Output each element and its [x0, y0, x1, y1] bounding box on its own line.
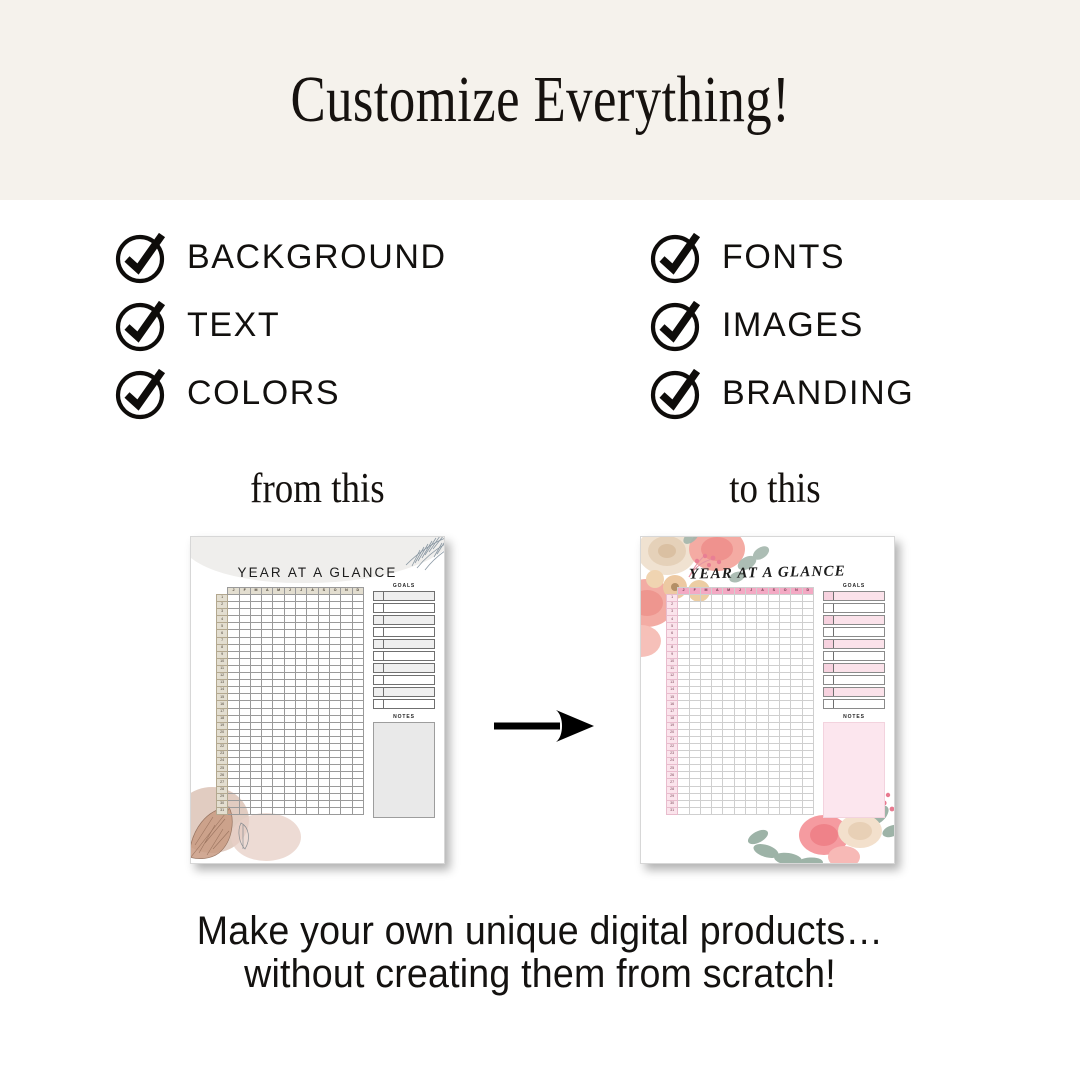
grid-cell[interactable]: [352, 807, 363, 814]
grid-cell[interactable]: [802, 680, 813, 687]
grid-cell[interactable]: [700, 623, 711, 630]
grid-cell[interactable]: [318, 708, 329, 715]
grid-cell[interactable]: [700, 758, 711, 765]
grid-cell[interactable]: [341, 807, 352, 814]
grid-cell[interactable]: [341, 743, 352, 750]
grid-cell[interactable]: [712, 722, 723, 729]
grid-cell[interactable]: [284, 708, 295, 715]
grid-cell[interactable]: [791, 708, 802, 715]
grid-cell[interactable]: [352, 616, 363, 623]
grid-cell[interactable]: [250, 616, 261, 623]
grid-cell[interactable]: [768, 793, 779, 800]
grid-cell[interactable]: [700, 743, 711, 750]
grid-cell[interactable]: [307, 609, 318, 616]
grid-cell[interactable]: [352, 800, 363, 807]
grid-cell[interactable]: [734, 694, 745, 701]
grid-cell[interactable]: [273, 736, 284, 743]
grid-cell[interactable]: [307, 800, 318, 807]
grid-cell[interactable]: [250, 743, 261, 750]
goal-text-field[interactable]: [384, 700, 434, 708]
grid-cell[interactable]: [307, 644, 318, 651]
grid-cell[interactable]: [791, 786, 802, 793]
grid-cell[interactable]: [712, 616, 723, 623]
goal-text-field[interactable]: [834, 700, 884, 708]
grid-cell[interactable]: [296, 729, 307, 736]
grid-cell[interactable]: [689, 743, 700, 750]
grid-cell[interactable]: [228, 779, 239, 786]
grid-cell[interactable]: [296, 758, 307, 765]
grid-cell[interactable]: [262, 736, 273, 743]
grid-cell[interactable]: [678, 807, 689, 814]
grid-cell[interactable]: [262, 772, 273, 779]
grid-cell[interactable]: [757, 807, 768, 814]
grid-cell[interactable]: [802, 609, 813, 616]
grid-cell[interactable]: [352, 715, 363, 722]
grid-cell[interactable]: [318, 751, 329, 758]
grid-cell[interactable]: [779, 722, 790, 729]
grid-cell[interactable]: [700, 729, 711, 736]
grid-cell[interactable]: [250, 637, 261, 644]
grid-cell[interactable]: [239, 694, 250, 701]
grid-cell[interactable]: [352, 758, 363, 765]
goal-text-field[interactable]: [384, 676, 434, 684]
grid-cell[interactable]: [700, 673, 711, 680]
grid-cell[interactable]: [273, 694, 284, 701]
planner-preview-after[interactable]: YEAR AT A GLANCE JFMAMJJASOND12345678910…: [640, 536, 895, 864]
grid-cell[interactable]: [296, 623, 307, 630]
grid-cell[interactable]: [228, 665, 239, 672]
grid-cell[interactable]: [689, 751, 700, 758]
grid-cell[interactable]: [700, 609, 711, 616]
grid-cell[interactable]: [791, 751, 802, 758]
grid-cell[interactable]: [802, 722, 813, 729]
grid-cell[interactable]: [734, 722, 745, 729]
grid-cell[interactable]: [746, 736, 757, 743]
grid-cell[interactable]: [329, 708, 340, 715]
goal-checkbox[interactable]: [824, 700, 834, 708]
grid-cell[interactable]: [768, 722, 779, 729]
grid-cell[interactable]: [352, 779, 363, 786]
grid-cell[interactable]: [768, 751, 779, 758]
grid-cell[interactable]: [228, 701, 239, 708]
grid-cell[interactable]: [734, 651, 745, 658]
grid-cell[interactable]: [273, 680, 284, 687]
grid-cell[interactable]: [318, 658, 329, 665]
grid-cell[interactable]: [723, 680, 734, 687]
grid-cell[interactable]: [768, 602, 779, 609]
grid-cell[interactable]: [700, 779, 711, 786]
grid-cell[interactable]: [802, 751, 813, 758]
grid-cell[interactable]: [352, 673, 363, 680]
grid-cell[interactable]: [678, 595, 689, 602]
grid-cell[interactable]: [307, 651, 318, 658]
grid-cell[interactable]: [689, 680, 700, 687]
grid-cell[interactable]: [228, 609, 239, 616]
grid-cell[interactable]: [250, 708, 261, 715]
notes-box[interactable]: [823, 722, 885, 818]
grid-cell[interactable]: [746, 729, 757, 736]
grid-cell[interactable]: [768, 786, 779, 793]
grid-cell[interactable]: [689, 800, 700, 807]
grid-cell[interactable]: [307, 616, 318, 623]
grid-cell[interactable]: [700, 701, 711, 708]
grid-cell[interactable]: [768, 680, 779, 687]
grid-cell[interactable]: [296, 694, 307, 701]
goal-checkbox[interactable]: [374, 628, 384, 636]
grid-cell[interactable]: [700, 765, 711, 772]
grid-cell[interactable]: [329, 637, 340, 644]
grid-cell[interactable]: [779, 665, 790, 672]
grid-cell[interactable]: [779, 701, 790, 708]
grid-cell[interactable]: [296, 616, 307, 623]
grid-cell[interactable]: [341, 736, 352, 743]
grid-cell[interactable]: [700, 708, 711, 715]
grid-cell[interactable]: [700, 595, 711, 602]
grid-cell[interactable]: [307, 743, 318, 750]
grid-cell[interactable]: [768, 694, 779, 701]
grid-cell[interactable]: [318, 630, 329, 637]
grid-cell[interactable]: [768, 715, 779, 722]
grid-cell[interactable]: [689, 658, 700, 665]
grid-cell[interactable]: [341, 595, 352, 602]
grid-cell[interactable]: [723, 736, 734, 743]
grid-cell[interactable]: [262, 651, 273, 658]
grid-cell[interactable]: [678, 722, 689, 729]
grid-cell[interactable]: [723, 694, 734, 701]
grid-cell[interactable]: [678, 772, 689, 779]
grid-cell[interactable]: [746, 708, 757, 715]
grid-cell[interactable]: [712, 800, 723, 807]
grid-cell[interactable]: [757, 644, 768, 651]
grid-cell[interactable]: [273, 673, 284, 680]
grid-cell[interactable]: [678, 715, 689, 722]
grid-cell[interactable]: [700, 736, 711, 743]
grid-cell[interactable]: [723, 637, 734, 644]
grid-cell[interactable]: [746, 602, 757, 609]
goal-row[interactable]: [373, 663, 435, 673]
goal-row[interactable]: [373, 687, 435, 697]
grid-cell[interactable]: [262, 609, 273, 616]
grid-cell[interactable]: [802, 637, 813, 644]
grid-cell[interactable]: [712, 736, 723, 743]
grid-cell[interactable]: [723, 595, 734, 602]
grid-cell[interactable]: [307, 623, 318, 630]
grid-cell[interactable]: [341, 637, 352, 644]
grid-cell[interactable]: [734, 786, 745, 793]
grid-cell[interactable]: [250, 609, 261, 616]
grid-cell[interactable]: [768, 807, 779, 814]
grid-cell[interactable]: [802, 736, 813, 743]
grid-cell[interactable]: [228, 651, 239, 658]
grid-cell[interactable]: [228, 694, 239, 701]
grid-cell[interactable]: [239, 637, 250, 644]
grid-cell[interactable]: [239, 651, 250, 658]
grid-cell[interactable]: [296, 687, 307, 694]
grid-cell[interactable]: [318, 644, 329, 651]
grid-cell[interactable]: [239, 772, 250, 779]
grid-cell[interactable]: [746, 595, 757, 602]
grid-cell[interactable]: [228, 687, 239, 694]
goal-text-field[interactable]: [384, 628, 434, 636]
grid-cell[interactable]: [318, 729, 329, 736]
grid-cell[interactable]: [746, 651, 757, 658]
grid-cell[interactable]: [700, 800, 711, 807]
grid-cell[interactable]: [262, 786, 273, 793]
grid-cell[interactable]: [746, 765, 757, 772]
grid-cell[interactable]: [757, 602, 768, 609]
grid-cell[interactable]: [791, 722, 802, 729]
grid-cell[interactable]: [689, 616, 700, 623]
grid-cell[interactable]: [791, 729, 802, 736]
grid-cell[interactable]: [757, 758, 768, 765]
grid-cell[interactable]: [757, 772, 768, 779]
grid-cell[interactable]: [273, 715, 284, 722]
grid-cell[interactable]: [228, 658, 239, 665]
grid-cell[interactable]: [228, 765, 239, 772]
grid-cell[interactable]: [296, 807, 307, 814]
grid-cell[interactable]: [689, 736, 700, 743]
grid-cell[interactable]: [678, 630, 689, 637]
goal-checkbox[interactable]: [374, 604, 384, 612]
grid-cell[interactable]: [768, 736, 779, 743]
grid-cell[interactable]: [239, 779, 250, 786]
grid-cell[interactable]: [307, 701, 318, 708]
grid-cell[interactable]: [329, 694, 340, 701]
grid-cell[interactable]: [700, 687, 711, 694]
grid-cell[interactable]: [678, 623, 689, 630]
grid-cell[interactable]: [734, 729, 745, 736]
grid-cell[interactable]: [712, 651, 723, 658]
grid-cell[interactable]: [341, 779, 352, 786]
grid-cell[interactable]: [779, 800, 790, 807]
grid-cell[interactable]: [802, 793, 813, 800]
grid-cell[interactable]: [239, 758, 250, 765]
grid-cell[interactable]: [802, 807, 813, 814]
grid-cell[interactable]: [284, 779, 295, 786]
goal-text-field[interactable]: [834, 688, 884, 696]
grid-cell[interactable]: [678, 637, 689, 644]
grid-cell[interactable]: [273, 687, 284, 694]
grid-cell[interactable]: [329, 630, 340, 637]
grid-cell[interactable]: [250, 651, 261, 658]
grid-cell[interactable]: [273, 786, 284, 793]
grid-cell[interactable]: [273, 701, 284, 708]
grid-cell[interactable]: [352, 665, 363, 672]
grid-cell[interactable]: [779, 793, 790, 800]
grid-cell[interactable]: [734, 687, 745, 694]
grid-cell[interactable]: [734, 673, 745, 680]
grid-cell[interactable]: [791, 779, 802, 786]
grid-cell[interactable]: [791, 807, 802, 814]
grid-cell[interactable]: [768, 609, 779, 616]
grid-cell[interactable]: [341, 708, 352, 715]
grid-cell[interactable]: [768, 743, 779, 750]
goal-checkbox[interactable]: [374, 676, 384, 684]
grid-cell[interactable]: [712, 701, 723, 708]
grid-cell[interactable]: [746, 694, 757, 701]
grid-cell[interactable]: [239, 602, 250, 609]
grid-cell[interactable]: [352, 729, 363, 736]
grid-cell[interactable]: [779, 772, 790, 779]
grid-cell[interactable]: [712, 630, 723, 637]
goal-row[interactable]: [373, 591, 435, 601]
grid-cell[interactable]: [284, 793, 295, 800]
grid-cell[interactable]: [802, 743, 813, 750]
grid-cell[interactable]: [746, 687, 757, 694]
grid-cell[interactable]: [250, 793, 261, 800]
grid-cell[interactable]: [689, 609, 700, 616]
grid-cell[interactable]: [250, 658, 261, 665]
grid-cell[interactable]: [678, 694, 689, 701]
grid-cell[interactable]: [307, 595, 318, 602]
grid-cell[interactable]: [239, 687, 250, 694]
grid-cell[interactable]: [779, 807, 790, 814]
grid-cell[interactable]: [284, 751, 295, 758]
grid-cell[interactable]: [307, 779, 318, 786]
grid-cell[interactable]: [678, 800, 689, 807]
grid-cell[interactable]: [307, 665, 318, 672]
grid-cell[interactable]: [228, 729, 239, 736]
grid-cell[interactable]: [228, 673, 239, 680]
grid-cell[interactable]: [352, 609, 363, 616]
grid-cell[interactable]: [689, 758, 700, 765]
grid-cell[interactable]: [307, 694, 318, 701]
grid-cell[interactable]: [329, 765, 340, 772]
grid-cell[interactable]: [779, 680, 790, 687]
grid-cell[interactable]: [712, 729, 723, 736]
grid-cell[interactable]: [734, 807, 745, 814]
grid-cell[interactable]: [689, 623, 700, 630]
goal-row[interactable]: [823, 675, 885, 685]
grid-cell[interactable]: [734, 743, 745, 750]
grid-cell[interactable]: [318, 595, 329, 602]
grid-cell[interactable]: [768, 729, 779, 736]
grid-cell[interactable]: [318, 772, 329, 779]
grid-cell[interactable]: [723, 665, 734, 672]
grid-cell[interactable]: [228, 715, 239, 722]
grid-cell[interactable]: [239, 765, 250, 772]
grid-cell[interactable]: [318, 779, 329, 786]
grid-cell[interactable]: [700, 602, 711, 609]
grid-cell[interactable]: [700, 680, 711, 687]
grid-cell[interactable]: [228, 644, 239, 651]
grid-cell[interactable]: [700, 637, 711, 644]
grid-cell[interactable]: [296, 765, 307, 772]
grid-cell[interactable]: [768, 765, 779, 772]
goal-text-field[interactable]: [384, 616, 434, 624]
grid-cell[interactable]: [723, 786, 734, 793]
grid-cell[interactable]: [678, 680, 689, 687]
grid-cell[interactable]: [746, 630, 757, 637]
grid-cell[interactable]: [712, 772, 723, 779]
grid-cell[interactable]: [689, 779, 700, 786]
grid-cell[interactable]: [228, 595, 239, 602]
grid-cell[interactable]: [700, 630, 711, 637]
grid-cell[interactable]: [250, 673, 261, 680]
grid-cell[interactable]: [802, 673, 813, 680]
grid-cell[interactable]: [678, 651, 689, 658]
grid-cell[interactable]: [262, 616, 273, 623]
grid-cell[interactable]: [250, 758, 261, 765]
grid-cell[interactable]: [712, 680, 723, 687]
grid-cell[interactable]: [712, 765, 723, 772]
grid-cell[interactable]: [239, 623, 250, 630]
grid-cell[interactable]: [352, 602, 363, 609]
grid-cell[interactable]: [678, 708, 689, 715]
grid-cell[interactable]: [341, 687, 352, 694]
grid-cell[interactable]: [273, 772, 284, 779]
grid-cell[interactable]: [318, 793, 329, 800]
grid-cell[interactable]: [341, 800, 352, 807]
grid-cell[interactable]: [352, 630, 363, 637]
grid-cell[interactable]: [723, 800, 734, 807]
grid-cell[interactable]: [768, 665, 779, 672]
goal-text-field[interactable]: [384, 592, 434, 600]
grid-cell[interactable]: [318, 687, 329, 694]
grid-cell[interactable]: [352, 751, 363, 758]
grid-cell[interactable]: [700, 694, 711, 701]
grid-cell[interactable]: [262, 793, 273, 800]
grid-cell[interactable]: [779, 602, 790, 609]
grid-cell[interactable]: [239, 715, 250, 722]
grid-cell[interactable]: [734, 765, 745, 772]
grid-cell[interactable]: [746, 751, 757, 758]
grid-cell[interactable]: [250, 807, 261, 814]
grid-cell[interactable]: [329, 595, 340, 602]
grid-cell[interactable]: [262, 630, 273, 637]
goal-row[interactable]: [373, 627, 435, 637]
grid-cell[interactable]: [757, 701, 768, 708]
grid-cell[interactable]: [307, 807, 318, 814]
grid-cell[interactable]: [228, 800, 239, 807]
grid-cell[interactable]: [768, 701, 779, 708]
grid-cell[interactable]: [779, 644, 790, 651]
grid-cell[interactable]: [689, 637, 700, 644]
grid-cell[interactable]: [329, 772, 340, 779]
grid-cell[interactable]: [273, 595, 284, 602]
grid-cell[interactable]: [296, 793, 307, 800]
grid-cell[interactable]: [734, 595, 745, 602]
grid-cell[interactable]: [318, 602, 329, 609]
grid-cell[interactable]: [341, 651, 352, 658]
grid-cell[interactable]: [341, 665, 352, 672]
grid-cell[interactable]: [768, 644, 779, 651]
grid-cell[interactable]: [284, 623, 295, 630]
grid-cell[interactable]: [712, 602, 723, 609]
grid-cell[interactable]: [250, 722, 261, 729]
grid-cell[interactable]: [712, 687, 723, 694]
grid-cell[interactable]: [262, 595, 273, 602]
grid-cell[interactable]: [284, 651, 295, 658]
grid-cell[interactable]: [329, 680, 340, 687]
grid-cell[interactable]: [791, 765, 802, 772]
grid-cell[interactable]: [791, 736, 802, 743]
grid-cell[interactable]: [228, 743, 239, 750]
grid-cell[interactable]: [262, 751, 273, 758]
goal-row[interactable]: [823, 699, 885, 709]
grid-cell[interactable]: [746, 772, 757, 779]
grid-cell[interactable]: [329, 807, 340, 814]
grid-cell[interactable]: [228, 602, 239, 609]
grid-cell[interactable]: [318, 807, 329, 814]
goal-text-field[interactable]: [834, 664, 884, 672]
grid-cell[interactable]: [329, 609, 340, 616]
grid-cell[interactable]: [284, 595, 295, 602]
grid-cell[interactable]: [352, 736, 363, 743]
grid-cell[interactable]: [318, 673, 329, 680]
grid-cell[interactable]: [791, 715, 802, 722]
grid-cell[interactable]: [734, 751, 745, 758]
